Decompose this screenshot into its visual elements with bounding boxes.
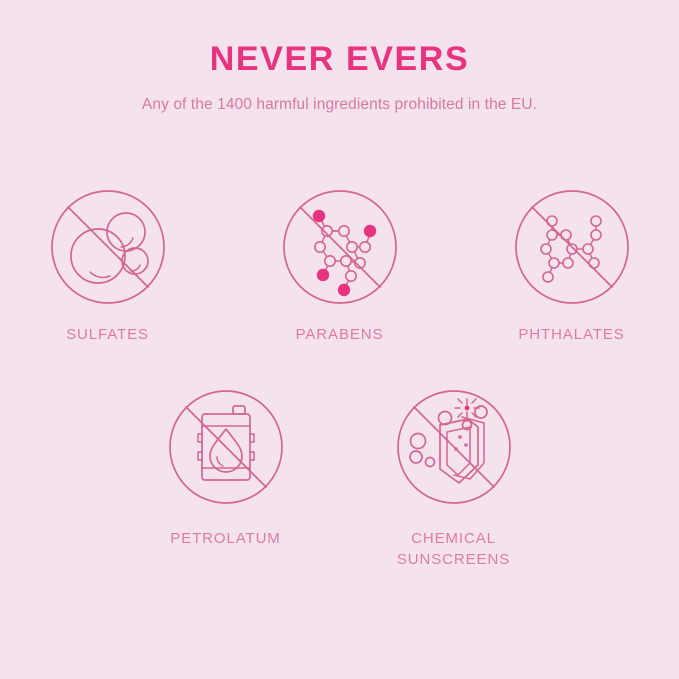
no-phthalates-molecule-icon [510, 185, 634, 309]
no-sulfates-bubbles-icon [46, 185, 170, 309]
item-label: PARABENS [296, 325, 384, 345]
item-petrolatum: PETROLATUM [143, 385, 309, 549]
item-label: SULFATES [66, 325, 149, 345]
no-chemical-sunscreens-bottle-icon [392, 385, 516, 509]
item-phthalates: PHTHALATES [489, 185, 655, 345]
page-subtitle: Any of the 1400 harmful ingredients proh… [0, 76, 679, 115]
page-title: NEVER EVERS [0, 42, 679, 76]
item-parabens: PARABENS [257, 185, 423, 345]
item-label: CHEMICAL SUNSCREENS [397, 529, 510, 570]
item-label: PETROLATUM [170, 529, 280, 549]
no-petrolatum-barrel-icon [164, 385, 288, 509]
grid-row-2: PETROLATUM [0, 385, 679, 570]
no-parabens-molecule-icon [278, 185, 402, 309]
item-chemical-sunscreens: CHEMICAL SUNSCREENS [371, 385, 537, 570]
item-label: PHTHALATES [518, 325, 624, 345]
header: NEVER EVERS Any of the 1400 harmful ingr… [0, 0, 679, 115]
never-evers-grid: SULFATES [0, 185, 679, 570]
grid-row-1: SULFATES [0, 185, 679, 345]
never-evers-infographic: NEVER EVERS Any of the 1400 harmful ingr… [0, 0, 679, 679]
item-sulfates: SULFATES [25, 185, 191, 345]
